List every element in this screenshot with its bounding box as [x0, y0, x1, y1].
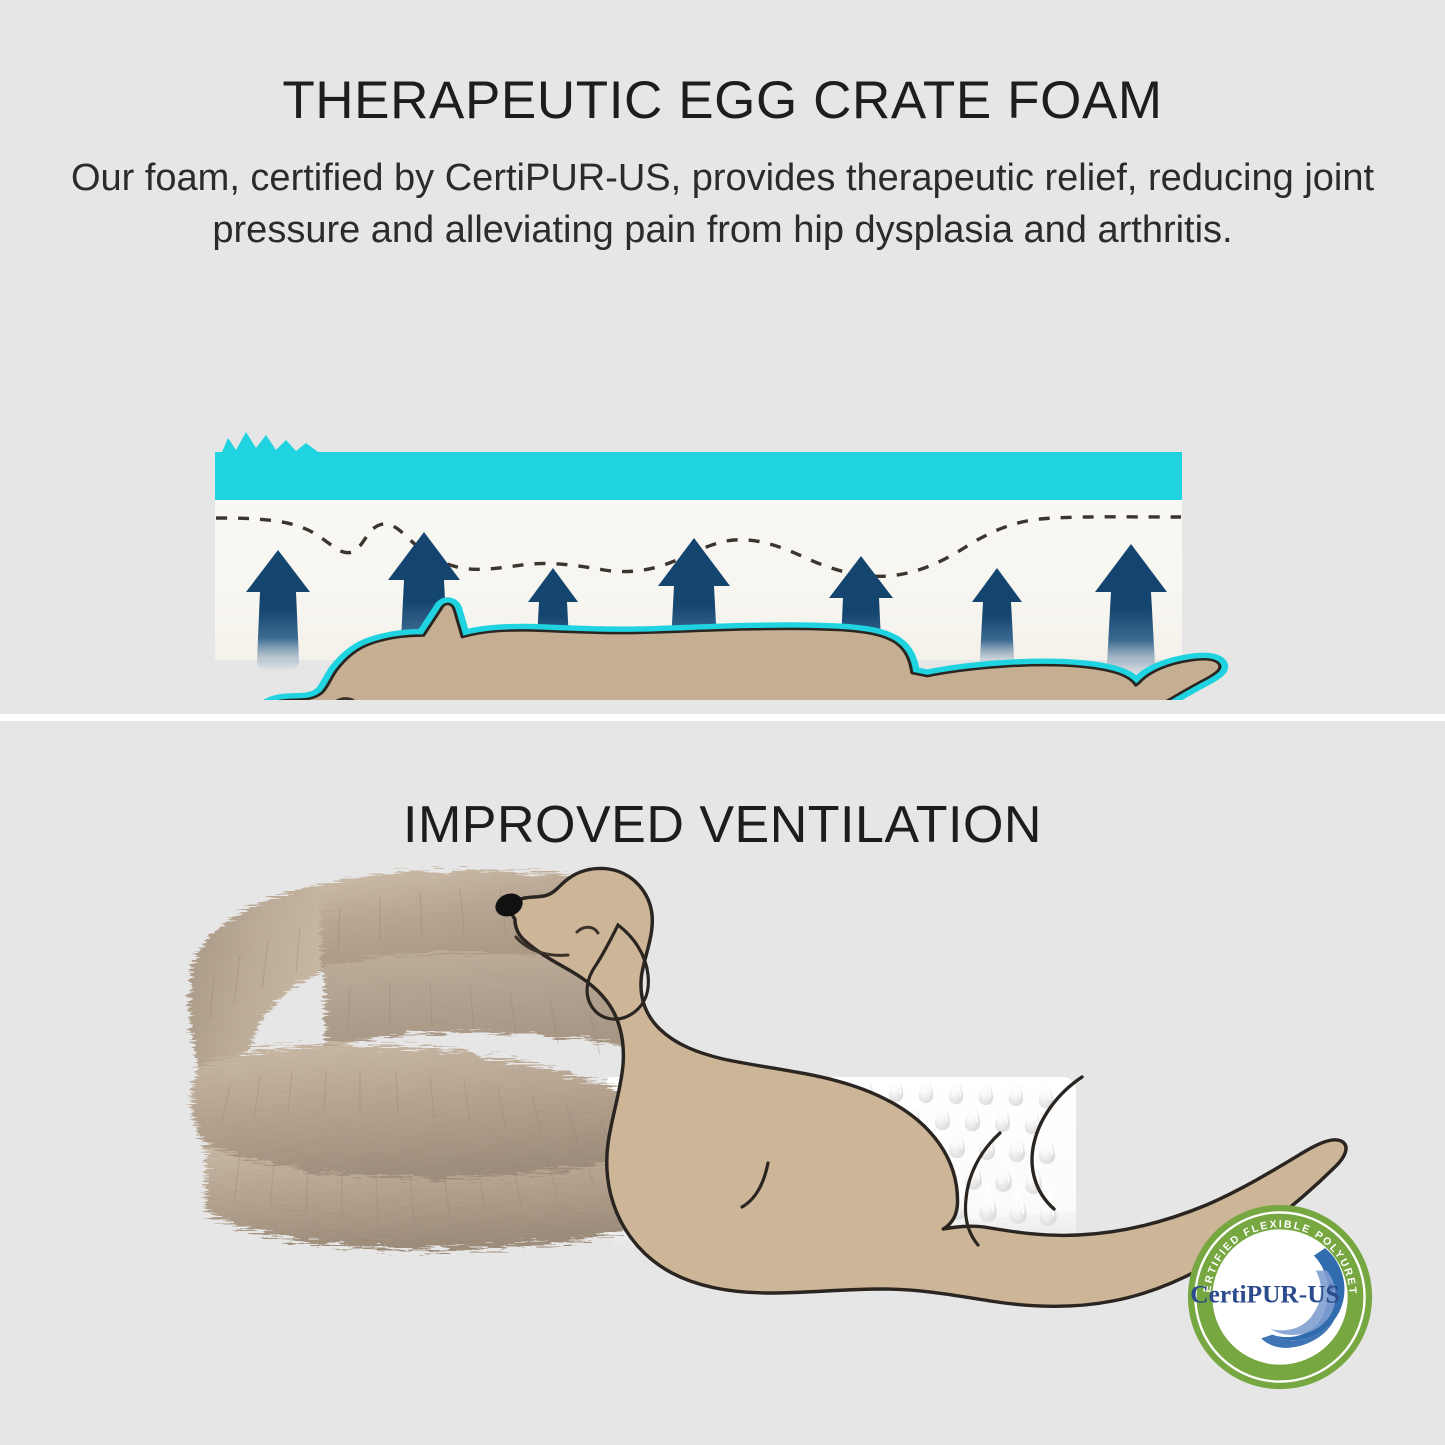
- certipur-us-seal: CONTAINS CERTIFIED FLEXIBLE POLYURETHANE…: [1186, 1203, 1374, 1391]
- cyan-memory-foam-top-layer: [215, 432, 1182, 500]
- page-title: THERAPEUTIC EGG CRATE FOAM: [0, 70, 1445, 131]
- badge-wordmark: CertiPUR-US: [1190, 1281, 1339, 1309]
- panel-divider: [0, 714, 1445, 721]
- product-feature-infographic: THERAPEUTIC EGG CRATE FOAM Our foam, cer…: [0, 0, 1445, 1445]
- section-title: IMPROVED VENTILATION: [0, 795, 1445, 855]
- panel-therapeutic-foam: THERAPEUTIC EGG CRATE FOAM Our foam, cer…: [0, 0, 1445, 714]
- cross-section-dog-on-foam-diagram: [0, 300, 1445, 700]
- panel-improved-ventilation: IMPROVED VENTILATION: [0, 721, 1445, 1445]
- badge-registered-mark: ®: [1328, 1282, 1335, 1292]
- page-subtitle: Our foam, certified by CertiPUR-US, prov…: [63, 152, 1383, 256]
